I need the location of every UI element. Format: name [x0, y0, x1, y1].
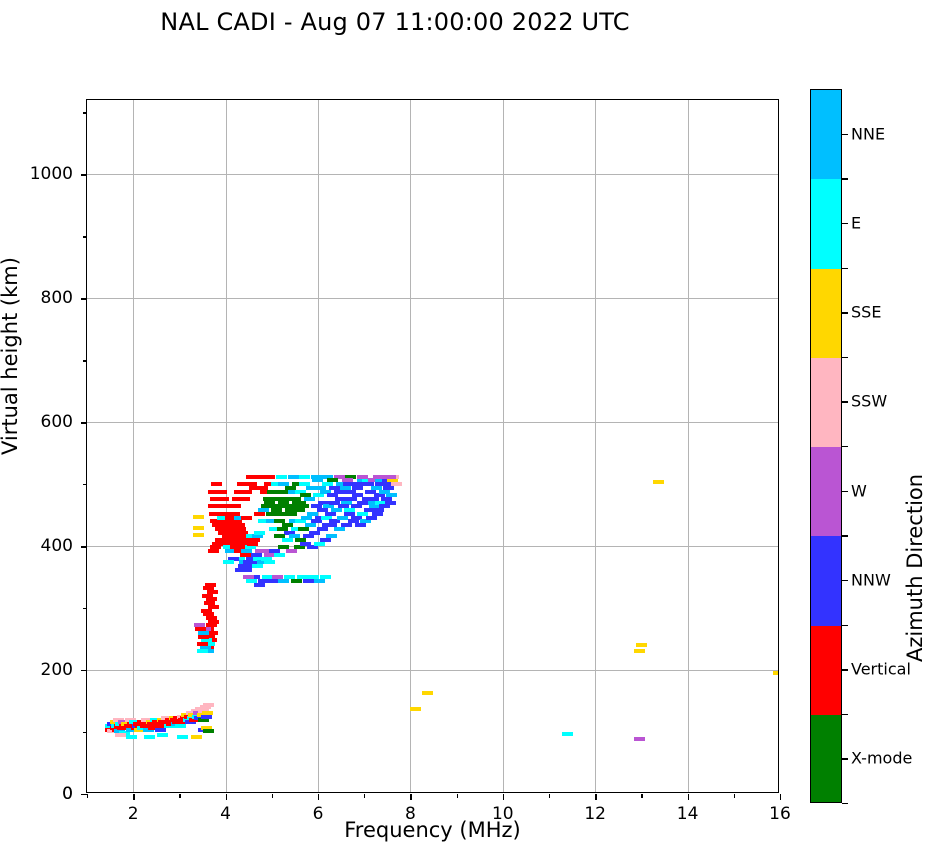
data-point: [286, 512, 297, 516]
colorbar-boundary-tick: [842, 178, 848, 179]
data-point: [326, 534, 337, 538]
gridline-vertical: [595, 100, 596, 792]
y-axis-tick: [81, 546, 87, 547]
x-axis-tick: [595, 794, 596, 800]
data-point: [235, 527, 246, 531]
data-point: [246, 475, 257, 479]
gridline-vertical: [133, 100, 134, 792]
data-point: [634, 649, 645, 653]
data-point: [282, 538, 293, 542]
x-axis-tick: [318, 794, 319, 800]
data-point: [334, 490, 345, 494]
x-axis-minor-tick: [272, 794, 273, 798]
data-point: [383, 486, 394, 490]
data-point: [327, 478, 338, 482]
data-point: [201, 609, 212, 613]
colorbar-boundary-tick: [842, 357, 848, 358]
x-axis-minor-tick: [87, 794, 88, 798]
data-point: [239, 497, 250, 501]
data-point: [315, 486, 326, 490]
colorbar-label-w: W: [851, 481, 867, 500]
data-point: [653, 480, 664, 484]
x-axis-title: Frequency (MHz): [86, 818, 779, 842]
y-axis-tick-label: 200: [41, 660, 73, 680]
data-point: [202, 711, 213, 715]
y-axis-origin-label: 0: [62, 784, 73, 804]
data-point: [249, 538, 260, 542]
data-point: [216, 490, 227, 494]
y-axis-minor-tick: [83, 360, 87, 361]
colorbar-band-ssw: [811, 358, 841, 448]
data-point: [303, 579, 314, 583]
data-point: [562, 732, 573, 736]
data-point: [298, 504, 309, 508]
data-point: [208, 620, 219, 624]
gridline-horizontal: [87, 422, 778, 423]
data-point: [193, 515, 204, 519]
y-axis-tick: [81, 298, 87, 299]
data-point: [208, 605, 219, 609]
y-axis-minor-tick: [83, 608, 87, 609]
colorbar-boundary-tick: [842, 803, 848, 804]
data-point: [193, 533, 204, 537]
x-axis-tick: [226, 794, 227, 800]
data-point: [204, 601, 215, 605]
data-point: [193, 526, 204, 530]
x-axis-tick: [503, 794, 504, 800]
data-point: [334, 527, 345, 531]
data-point: [243, 575, 254, 579]
data-point: [313, 493, 324, 497]
colorbar-band-vertical: [811, 626, 841, 716]
data-point: [254, 512, 265, 516]
data-point: [241, 568, 252, 572]
data-point: [385, 501, 396, 505]
colorbar-tick: [842, 669, 848, 670]
data-point: [298, 527, 309, 531]
data-point: [274, 553, 285, 557]
data-point: [157, 733, 168, 737]
data-point: [307, 545, 318, 549]
data-point: [636, 643, 647, 647]
data-point: [320, 538, 331, 542]
colorbar-boundary-tick: [842, 446, 848, 447]
x-axis-tick: [780, 794, 781, 800]
colorbar-tick: [842, 223, 848, 224]
data-point: [294, 545, 305, 549]
y-axis-tick: [81, 422, 87, 423]
page-title: NAL CADI - Aug 07 11:00:00 2022 UTC: [0, 8, 790, 36]
data-point: [191, 735, 202, 739]
data-point: [197, 649, 208, 653]
gridline-horizontal: [87, 670, 778, 671]
colorbar-label-ssw: SSW: [851, 392, 887, 411]
y-axis-minor-tick: [83, 112, 87, 113]
data-point: [314, 579, 325, 583]
x-axis-minor-tick: [457, 794, 458, 798]
colorbar-label-nne: NNE: [851, 124, 885, 143]
gridline-horizontal: [87, 174, 778, 175]
colorbar-tick: [842, 580, 848, 581]
data-point: [126, 735, 137, 739]
colorbar-band-w: [811, 447, 841, 537]
data-point: [231, 519, 242, 523]
colorbar-tick: [842, 134, 848, 135]
data-point: [201, 715, 212, 719]
y-axis-tick-label: 800: [41, 288, 73, 308]
data-point: [144, 735, 155, 739]
gridline-vertical: [410, 100, 411, 792]
data-point: [410, 707, 421, 711]
data-point: [305, 523, 316, 527]
colorbar: [810, 89, 842, 803]
data-point: [203, 703, 214, 707]
data-point: [372, 512, 383, 516]
colorbar-tick: [842, 312, 848, 313]
data-point: [276, 475, 287, 479]
data-point: [202, 594, 213, 598]
data-point: [329, 486, 340, 490]
data-point: [205, 583, 216, 587]
colorbar-band-e: [811, 179, 841, 269]
data-point: [155, 728, 166, 732]
data-point: [175, 724, 186, 728]
data-point: [257, 486, 268, 490]
data-point: [373, 475, 384, 479]
data-point: [254, 531, 265, 535]
data-point: [264, 560, 275, 564]
data-point: [351, 504, 362, 508]
data-point: [357, 501, 368, 505]
colorbar-band-nnw: [811, 536, 841, 626]
colorbar-tick: [842, 758, 848, 759]
data-point: [264, 475, 275, 479]
colorbar-boundary-tick: [842, 535, 848, 536]
y-axis-tick-label: 400: [41, 536, 73, 556]
y-axis-tick: [81, 174, 87, 175]
data-point: [303, 534, 314, 538]
data-point: [342, 478, 353, 482]
data-point: [223, 560, 234, 564]
colorbar-label-vertical: Vertical: [851, 660, 911, 679]
x-axis-minor-tick: [641, 794, 642, 798]
data-point: [331, 508, 342, 512]
y-axis-minor-tick: [83, 484, 87, 485]
data-point: [234, 523, 245, 527]
data-point: [194, 623, 205, 627]
x-axis-tick: [688, 794, 689, 800]
x-axis-minor-tick: [549, 794, 550, 798]
gridline-horizontal: [87, 298, 778, 299]
data-point: [241, 516, 252, 520]
data-point: [286, 549, 297, 553]
colorbar-tick: [842, 401, 848, 402]
data-point: [291, 579, 302, 583]
data-point: [366, 516, 377, 520]
y-axis-minor-tick: [83, 236, 87, 237]
y-axis-tick-label: 1000: [30, 164, 73, 184]
gridline-vertical: [318, 100, 319, 792]
data-point: [230, 504, 241, 508]
data-point: [379, 504, 390, 508]
data-point: [206, 597, 217, 601]
data-point: [207, 590, 218, 594]
data-point: [386, 493, 397, 497]
plot-canvas: [87, 100, 778, 792]
y-axis-minor-tick: [83, 732, 87, 733]
x-axis-tick: [133, 794, 134, 800]
data-point: [357, 475, 368, 479]
x-axis-minor-tick: [179, 794, 180, 798]
data-point: [252, 564, 263, 568]
x-axis-minor-tick: [734, 794, 735, 798]
data-point: [294, 508, 305, 512]
data-point: [210, 545, 221, 549]
colorbar-label-sse: SSE: [851, 303, 881, 322]
colorbar-band-x-mode: [811, 715, 841, 803]
data-point: [350, 482, 361, 486]
gridline-vertical: [688, 100, 689, 792]
data-point: [337, 516, 348, 520]
data-point: [304, 497, 315, 501]
gridline-vertical: [226, 100, 227, 792]
gridline-horizontal: [87, 546, 778, 547]
data-point: [327, 493, 338, 497]
y-axis-tick: [81, 670, 87, 671]
data-point: [634, 737, 645, 741]
data-point: [251, 553, 262, 557]
data-point: [773, 671, 778, 675]
data-point: [177, 735, 188, 739]
data-point: [208, 549, 219, 553]
data-point: [247, 542, 258, 546]
data-point: [241, 490, 252, 494]
colorbar-label-x-mode: X-mode: [851, 749, 912, 768]
data-point: [309, 531, 320, 535]
colorbar-band-sse: [811, 269, 841, 359]
data-point: [346, 497, 357, 501]
data-point: [355, 523, 366, 527]
data-point: [391, 482, 402, 486]
data-point: [278, 579, 289, 583]
colorbar-boundary-tick: [842, 625, 848, 626]
y-axis-title: Virtual height (km): [0, 257, 22, 455]
colorbar-tick: [842, 491, 848, 492]
x-axis-tick: [410, 794, 411, 800]
data-point: [345, 490, 356, 494]
data-point: [317, 527, 328, 531]
data-point: [254, 583, 265, 587]
data-point: [195, 627, 206, 631]
x-axis-minor-tick: [364, 794, 365, 798]
data-point: [206, 616, 217, 620]
data-point: [218, 497, 229, 501]
colorbar-label-e: E: [851, 213, 861, 232]
data-point: [360, 519, 371, 523]
data-point: [341, 523, 352, 527]
colorbar-boundary-tick: [842, 268, 848, 269]
data-point: [252, 534, 263, 538]
colorbar-label-nnw: NNW: [851, 570, 891, 589]
colorbar-band-nne: [811, 90, 841, 180]
data-point: [198, 635, 209, 639]
data-point: [422, 691, 433, 695]
data-point: [311, 519, 322, 523]
gridline-vertical: [503, 100, 504, 792]
data-point: [312, 478, 323, 482]
data-point: [352, 486, 363, 490]
data-point: [198, 718, 209, 722]
data-point: [314, 542, 325, 546]
data-point: [203, 729, 214, 733]
data-point: [288, 475, 299, 479]
data-point: [320, 575, 331, 579]
data-point: [268, 579, 279, 583]
data-point: [373, 508, 384, 512]
y-axis-tick-label: 600: [41, 412, 73, 432]
colorbar-boundary-tick: [842, 714, 848, 715]
data-point: [203, 612, 214, 616]
ionogram-plot: 020040060080010002468101214160: [86, 99, 779, 793]
data-point: [203, 586, 214, 590]
data-point: [285, 486, 296, 490]
data-point: [115, 733, 126, 737]
data-point: [211, 482, 222, 486]
data-point: [299, 475, 310, 479]
colorbar-title: Azimuth Direction: [903, 474, 927, 662]
